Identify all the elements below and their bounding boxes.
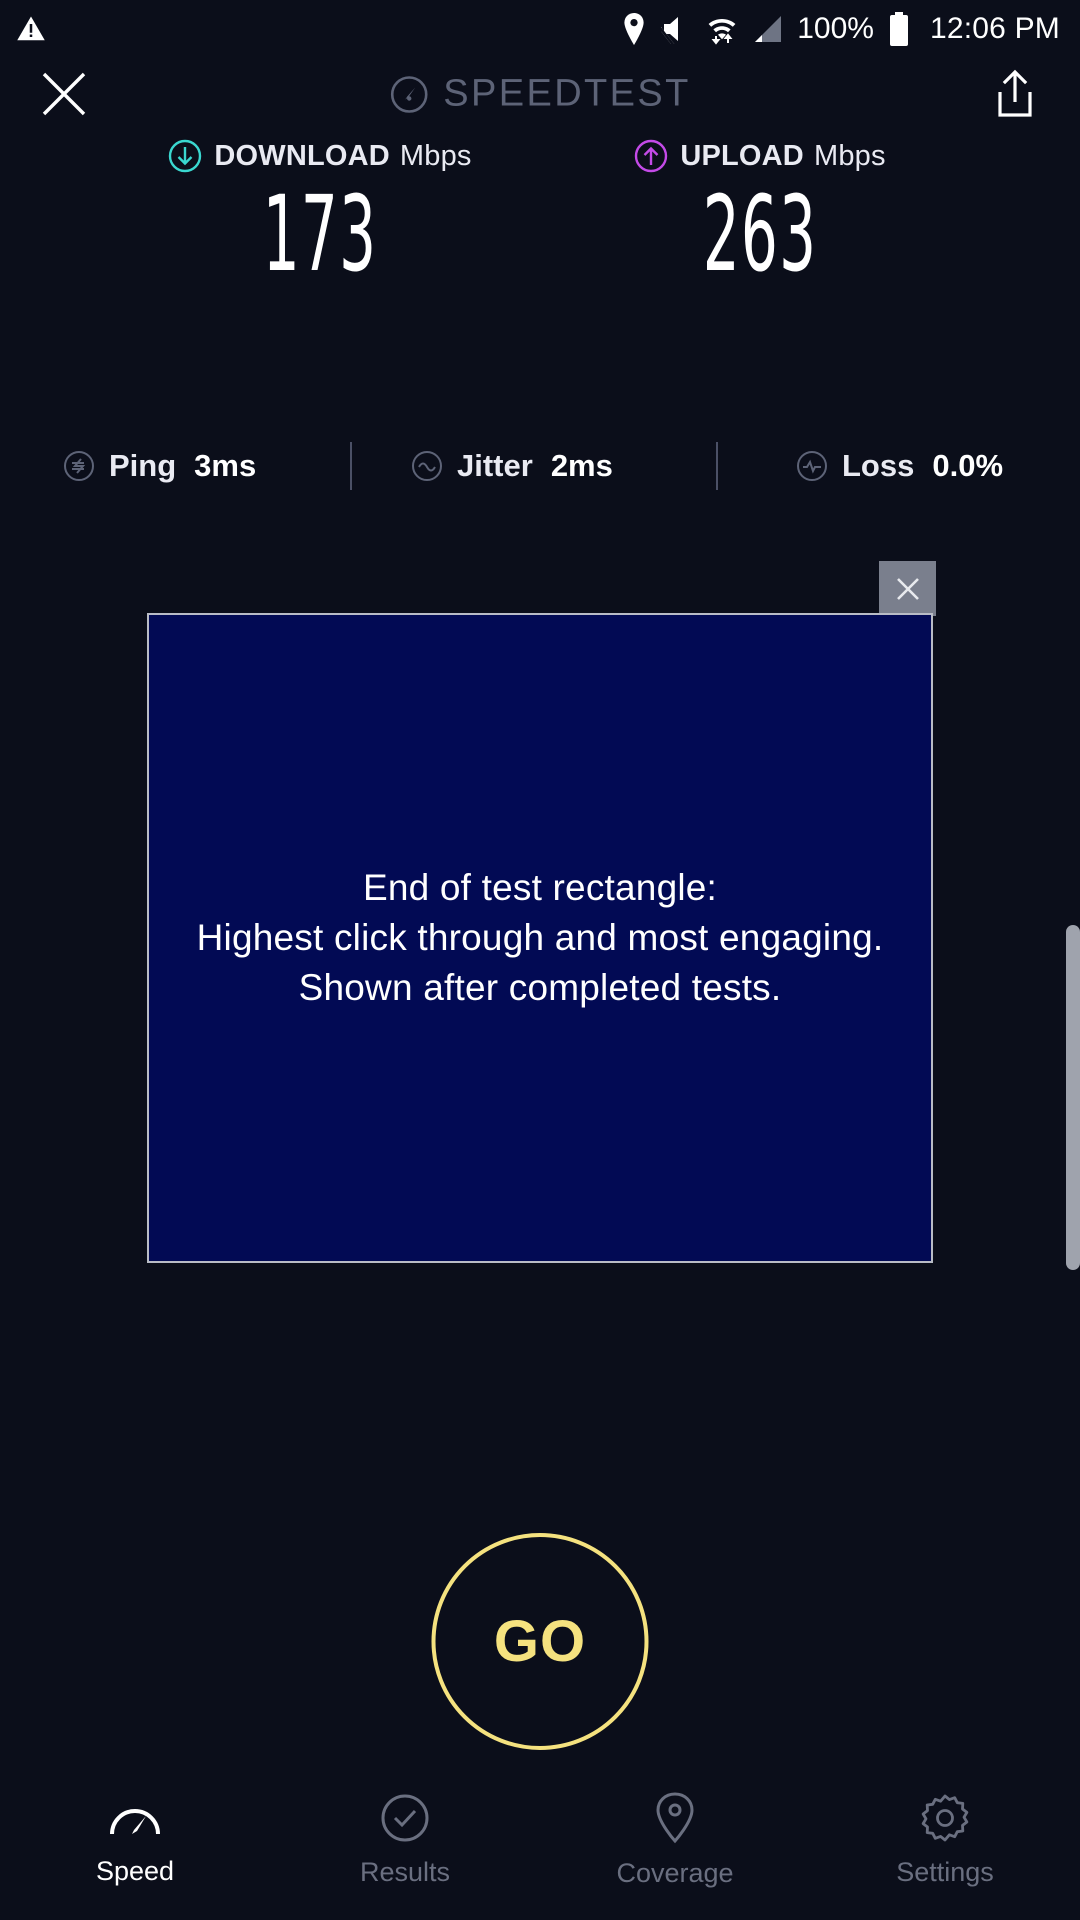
close-button[interactable] xyxy=(38,68,90,120)
download-label: DOWNLOADMbps xyxy=(214,140,471,173)
divider-2 xyxy=(716,442,718,490)
loss-value: 0.0% xyxy=(932,448,1003,484)
ad-close-button[interactable] xyxy=(879,561,936,616)
volume-mute-icon xyxy=(661,14,693,44)
location-pin-icon xyxy=(621,13,647,45)
wifi-transfer-icon xyxy=(707,13,737,45)
app-title: SPEEDTEST xyxy=(443,73,691,116)
nav-label-coverage: Coverage xyxy=(616,1858,733,1889)
upload-label: UPLOADMbps xyxy=(680,140,885,173)
upload-value: 263 xyxy=(624,182,897,286)
share-button[interactable] xyxy=(992,68,1038,120)
download-upload-row: DOWNLOADMbps 173 UPLOADMbps 263 xyxy=(0,136,1080,286)
download-value: 173 xyxy=(184,182,457,286)
check-circle-icon xyxy=(380,1793,430,1843)
upload-arrow-circle-icon xyxy=(634,139,668,173)
loss-metric: Loss 0.0% xyxy=(795,448,1003,484)
map-pin-icon xyxy=(655,1792,695,1844)
loss-circle-icon xyxy=(795,449,829,483)
divider-1 xyxy=(350,442,352,490)
jitter-circle-icon xyxy=(410,449,444,483)
advertisement-banner[interactable]: End of test rectangle: Highest click thr… xyxy=(147,613,933,1263)
nav-label-settings: Settings xyxy=(896,1857,994,1888)
ad-line-1: End of test rectangle: xyxy=(197,863,884,913)
status-bar: 100% 12:06 PM xyxy=(0,0,1080,58)
ad-line-3: Shown after completed tests. xyxy=(197,963,884,1013)
cell-signal-icon xyxy=(751,14,783,44)
download-header: DOWNLOADMbps xyxy=(100,136,540,176)
nav-item-settings[interactable]: Settings xyxy=(810,1793,1080,1888)
status-bar-right: 100% 12:06 PM xyxy=(621,12,1080,46)
ping-jitter-loss-row: Ping 3ms Jitter 2ms Loss 0.0 xyxy=(0,436,1080,496)
ping-metric: Ping 3ms xyxy=(62,448,256,484)
ping-value: 3ms xyxy=(194,448,256,484)
nav-label-results: Results xyxy=(360,1857,450,1888)
nav-item-speed[interactable]: Speed xyxy=(0,1794,270,1887)
bottom-navigation: Speed Results Coverage Settings xyxy=(0,1760,1080,1920)
clock-label: 12:06 PM xyxy=(930,12,1060,46)
go-button-label: GO xyxy=(494,1608,586,1675)
ping-label: Ping xyxy=(109,448,176,484)
status-bar-left xyxy=(0,14,46,44)
download-label-unit: Mbps xyxy=(400,140,472,172)
upload-header: UPLOADMbps xyxy=(540,136,980,176)
scrollbar-thumb[interactable] xyxy=(1066,925,1080,1270)
upload-label-primary: UPLOAD xyxy=(680,140,804,172)
download-label-primary: DOWNLOAD xyxy=(214,140,390,172)
brand-lockup: SPEEDTEST xyxy=(389,73,691,116)
nav-label-speed: Speed xyxy=(96,1856,174,1887)
results-section: DOWNLOADMbps 173 UPLOADMbps 263 xyxy=(0,136,1080,286)
app-header: SPEEDTEST xyxy=(0,58,1080,130)
go-button[interactable]: GO xyxy=(432,1533,649,1750)
gear-icon xyxy=(920,1793,970,1843)
ad-text-block: End of test rectangle: Highest click thr… xyxy=(197,863,884,1014)
download-metric: DOWNLOADMbps 173 xyxy=(100,136,540,286)
battery-percent-label: 100% xyxy=(797,12,874,46)
battery-full-icon xyxy=(888,12,910,46)
upload-metric: UPLOADMbps 263 xyxy=(540,136,980,286)
speedtest-gauge-icon xyxy=(389,74,429,114)
jitter-value: 2ms xyxy=(551,448,613,484)
download-arrow-circle-icon xyxy=(168,139,202,173)
jitter-label: Jitter xyxy=(457,448,533,484)
nav-item-results[interactable]: Results xyxy=(270,1793,540,1888)
jitter-metric: Jitter 2ms xyxy=(410,448,613,484)
ad-line-2: Highest click through and most engaging. xyxy=(197,913,884,963)
upload-label-unit: Mbps xyxy=(814,140,886,172)
nav-item-coverage[interactable]: Coverage xyxy=(540,1792,810,1889)
ping-circle-icon xyxy=(62,449,96,483)
warning-triangle-icon xyxy=(16,14,46,44)
loss-label: Loss xyxy=(842,448,914,484)
speedometer-icon xyxy=(108,1794,162,1842)
